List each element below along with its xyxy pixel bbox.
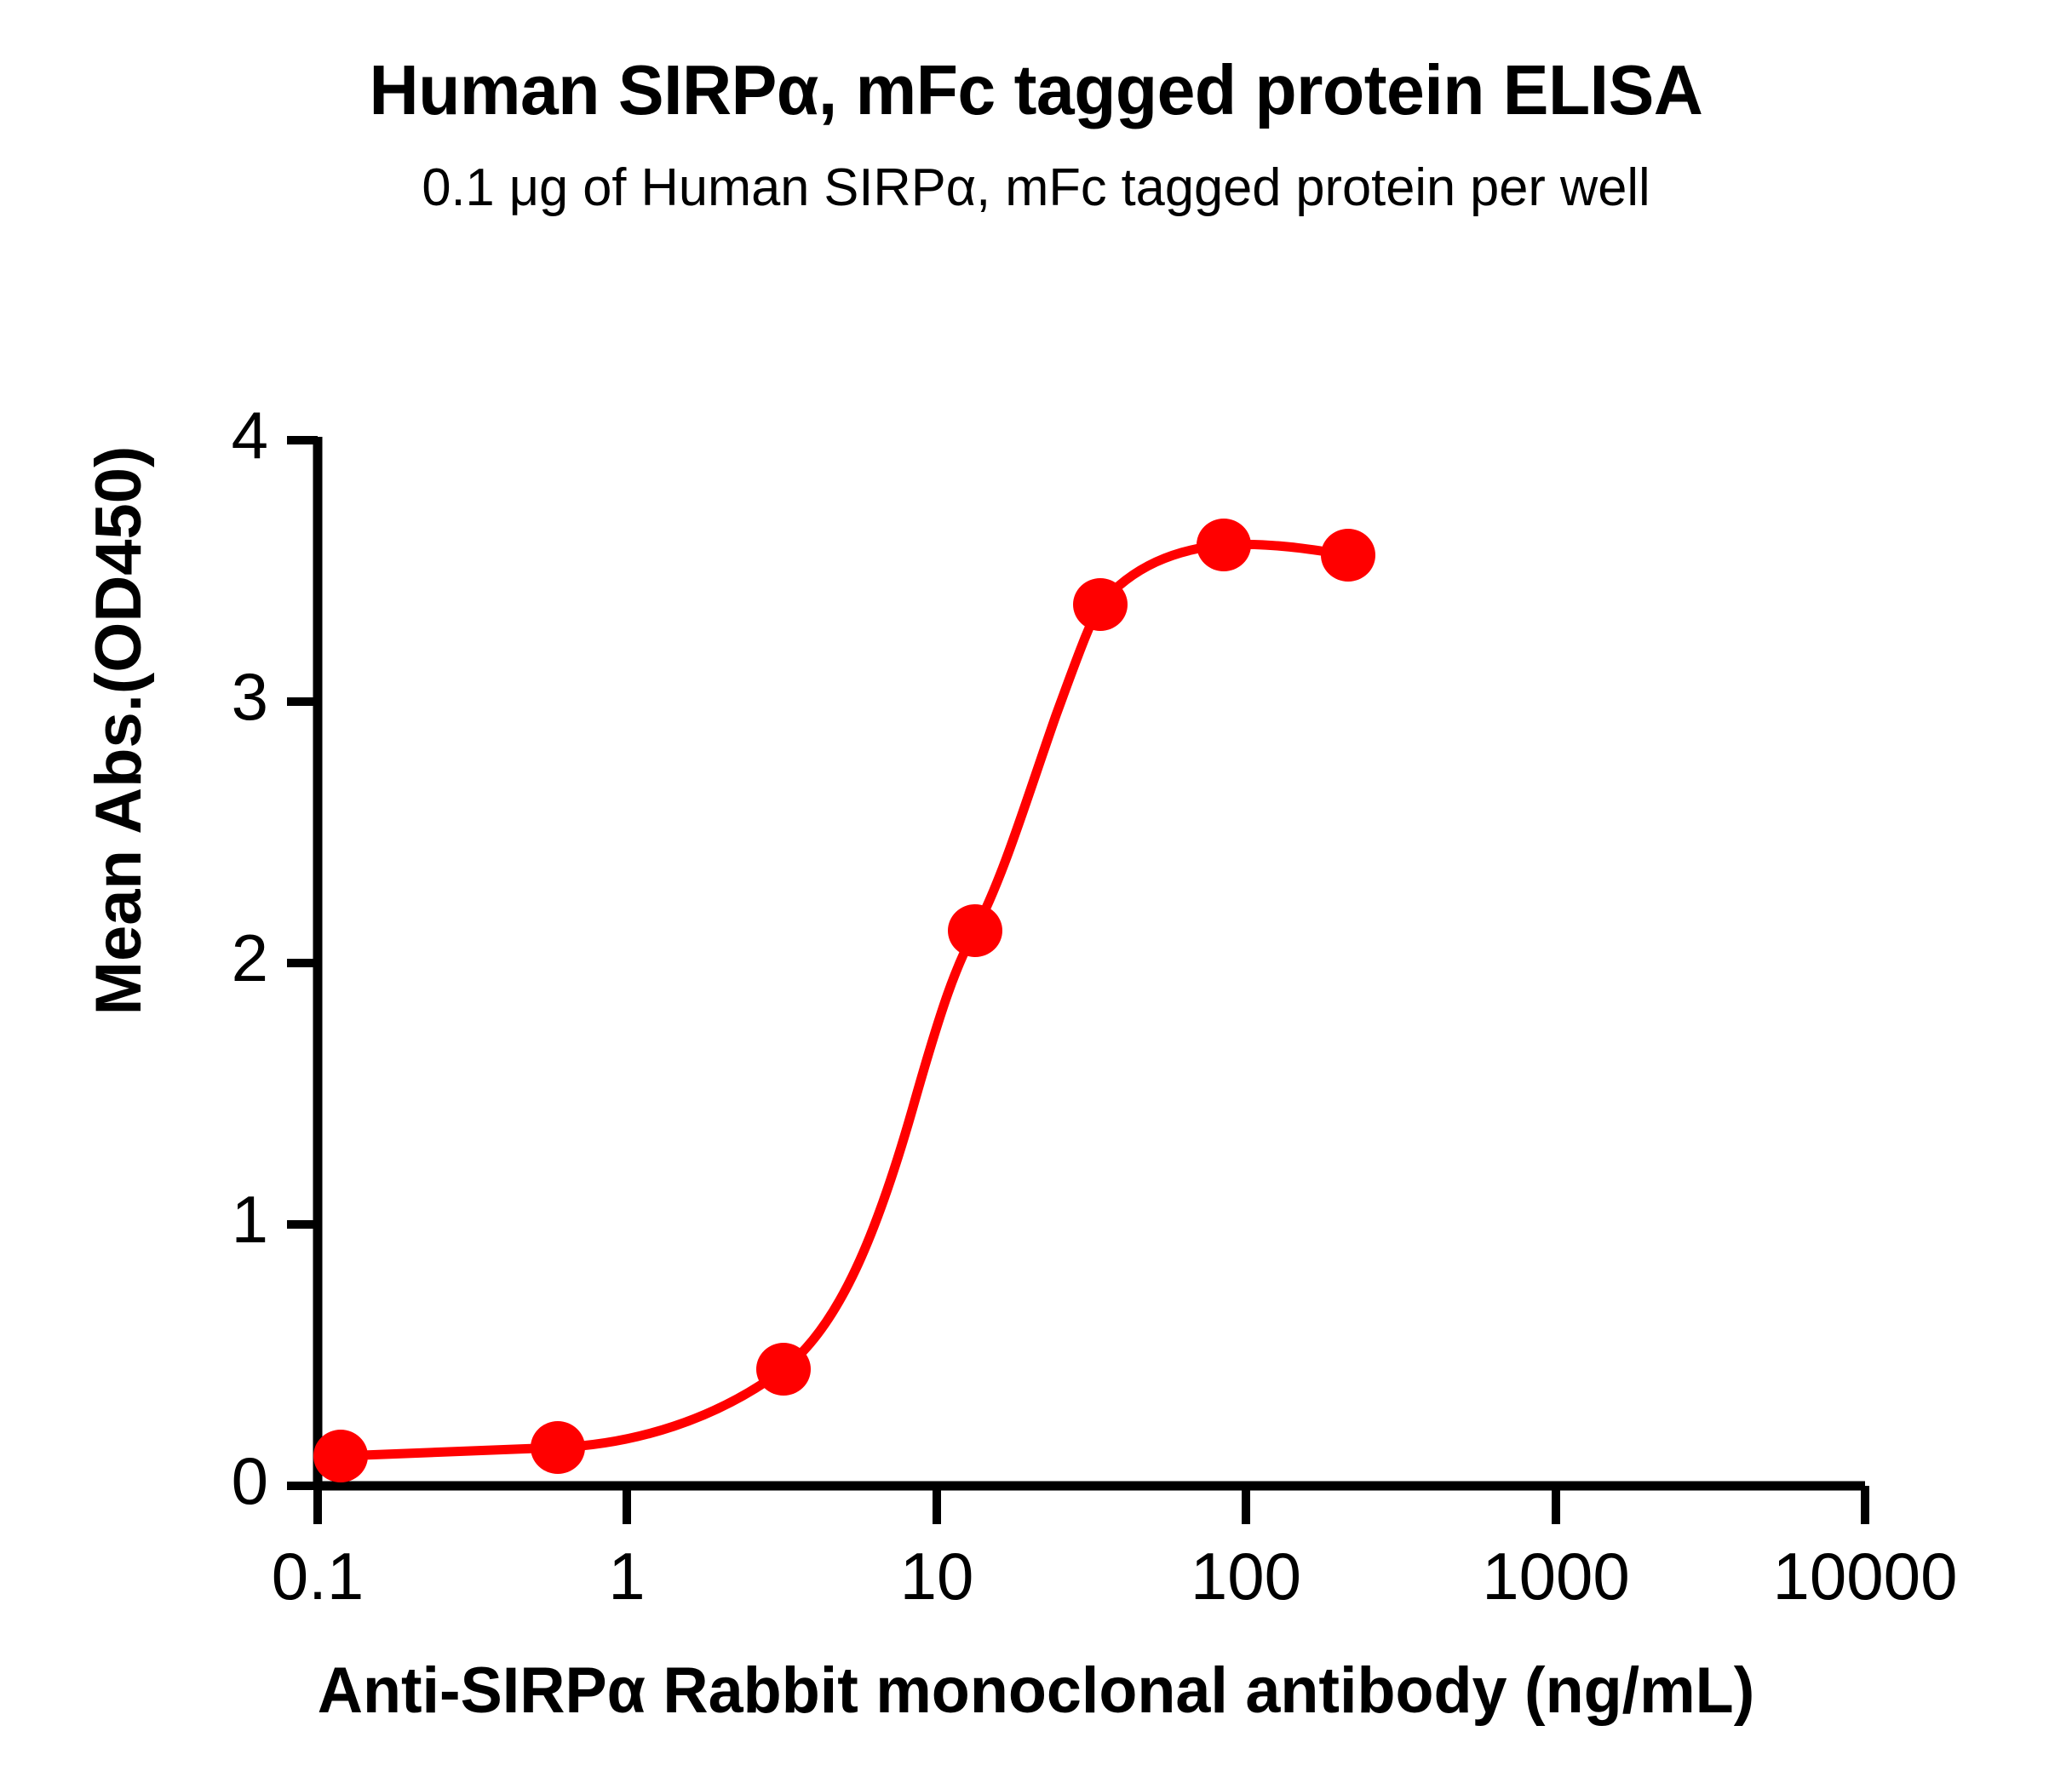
x-tick-label-5: 10000 <box>1695 1543 2035 1609</box>
x-axis-title: Anti-SIRPα Rabbit monoclonal antibody (n… <box>31 1659 2040 1723</box>
plot-area: 4 3 2 1 0 0.1 1 10 100 1000 10000 Mean A… <box>0 0 2072 1783</box>
y-tick-label-1: 1 <box>141 1186 268 1253</box>
x-tick-label-2: 10 <box>766 1543 1107 1609</box>
y-tick-label-0: 0 <box>141 1448 268 1514</box>
y-tick-label-4: 4 <box>141 402 268 468</box>
y-axis-title: Mean Abs.(OD450) <box>87 347 152 1114</box>
y-tick-label-2: 2 <box>141 925 268 991</box>
x-tick-label-1: 1 <box>456 1543 797 1609</box>
y-tick-label-3: 3 <box>141 663 268 730</box>
data-point[interactable] <box>1197 519 1251 571</box>
chart-svg <box>0 0 2072 1783</box>
data-point[interactable] <box>1073 578 1128 631</box>
x-tick-label-4: 1000 <box>1386 1543 1726 1609</box>
x-tick-marks <box>318 1486 1865 1524</box>
fit-curve <box>341 544 1348 1456</box>
data-point[interactable] <box>756 1343 811 1396</box>
data-point[interactable] <box>313 1430 368 1482</box>
x-tick-label-0: 0.1 <box>147 1543 488 1609</box>
data-point[interactable] <box>948 904 1002 957</box>
x-tick-label-3: 100 <box>1076 1543 1416 1609</box>
data-point[interactable] <box>1321 529 1375 582</box>
data-point[interactable] <box>531 1421 585 1474</box>
chart-page: Human SIRPα, mFc tagged protein ELISA 0.… <box>0 0 2072 1783</box>
data-point-markers <box>313 519 1375 1482</box>
